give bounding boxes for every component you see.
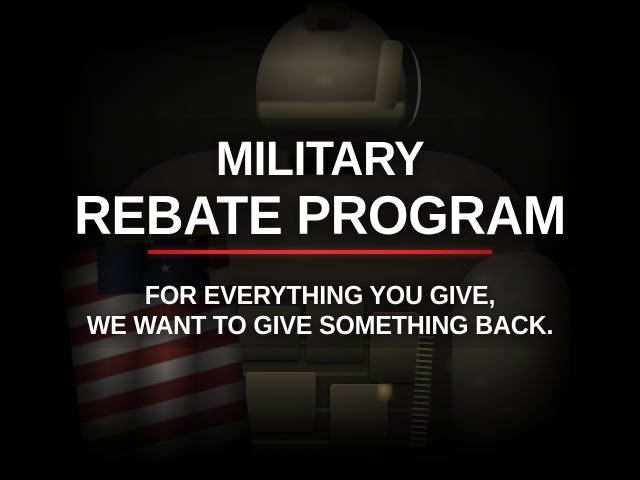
nvg-mount-icon [306, 2, 350, 28]
flag-shadow-overlay [59, 232, 256, 480]
subheadline-line-2: WE WANT TO GIVE SOMETHING BACK. [13, 312, 627, 338]
headline-line-2: REBATE PROGRAM [16, 188, 624, 243]
vest-accent-highlight [378, 384, 392, 400]
military-rebate-poster: ★ ★ ★ ★ ★ MILITARY REBATE PROGRAM FOR EV… [0, 0, 640, 480]
headline-line-1: MILITARY [13, 136, 627, 184]
american-flag: ★ ★ ★ ★ ★ [59, 232, 256, 480]
red-divider-rule [148, 250, 492, 254]
subheadline-line-1: FOR EVERYTHING YOU GIVE, [13, 282, 627, 308]
vest-pouch [246, 372, 316, 432]
